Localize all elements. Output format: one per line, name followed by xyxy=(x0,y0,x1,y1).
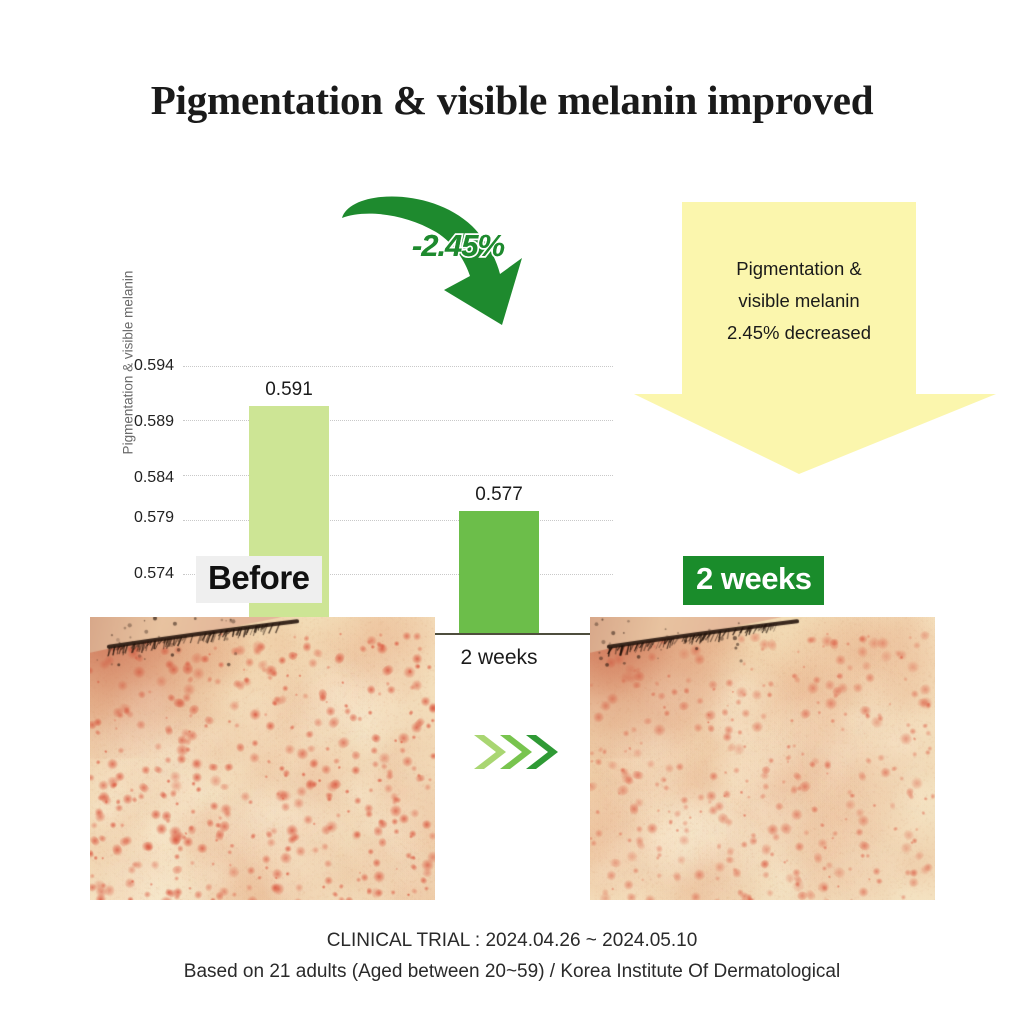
gridline xyxy=(183,366,613,367)
decrease-arrow-icon xyxy=(340,192,550,337)
percent-change-label: -2.45% xyxy=(378,228,538,264)
y-tick-label: 0.584 xyxy=(108,469,174,487)
y-tick-label: 0.589 xyxy=(108,413,174,431)
callout-line-1: Pigmentation & xyxy=(736,258,861,279)
before-tag: Before xyxy=(196,556,322,603)
y-tick-label: 0.574 xyxy=(108,565,174,583)
page-title: Pigmentation & visible melanin improved xyxy=(0,76,1024,124)
gridline xyxy=(183,520,613,521)
after-photo xyxy=(590,617,935,900)
bar-value-label-before: 0.591 xyxy=(229,379,349,401)
x-tick-label-2weeks: 2 weeks xyxy=(409,646,589,670)
footer-line-1: CLINICAL TRIAL : 2024.04.26 ~ 2024.05.10 xyxy=(0,930,1024,952)
bar-value-label-2weeks: 0.577 xyxy=(439,484,559,506)
footer-line-2: Based on 21 adults (Aged between 20~59) … xyxy=(0,961,1024,983)
y-tick-label: 0.594 xyxy=(108,357,174,375)
before-photo xyxy=(90,617,435,900)
callout-line-3: 2.45% decreased xyxy=(727,322,871,343)
bar-2weeks xyxy=(459,511,539,633)
callout-text: Pigmentation & visible melanin 2.45% dec… xyxy=(682,253,916,349)
infographic-root: Pigmentation & visible melanin improved … xyxy=(0,0,1024,1024)
gridline xyxy=(183,475,613,476)
after-tag: 2 weeks xyxy=(683,556,824,605)
y-tick-label: 0.579 xyxy=(108,509,174,527)
callout-line-2: visible melanin xyxy=(738,290,859,311)
gridline xyxy=(183,420,613,421)
chevron-right-icon xyxy=(470,727,560,777)
